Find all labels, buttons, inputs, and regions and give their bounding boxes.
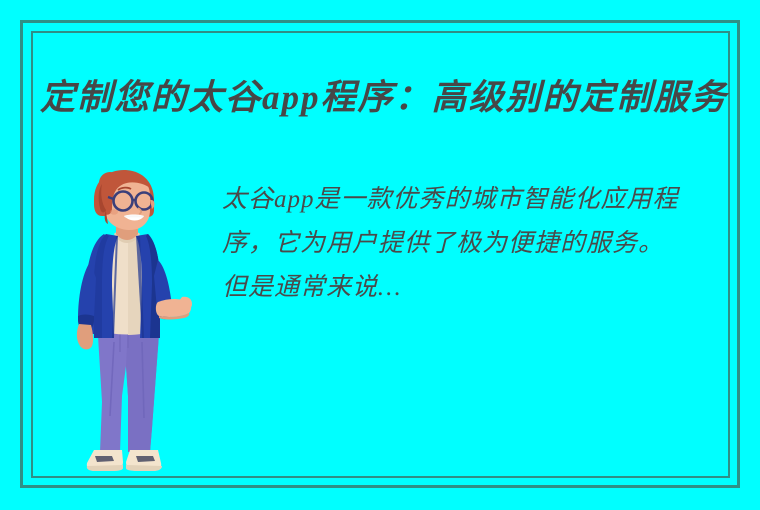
body-line-1: 太谷app是一款优秀的城市智能化应用程: [222, 178, 730, 222]
body-line-2: 序，它为用户提供了极为便捷的服务。: [222, 222, 730, 266]
body-text: 太谷app是一款优秀的城市智能化应用程 序，它为用户提供了极为便捷的服务。 但是…: [222, 178, 730, 310]
body-line-3: 但是通常来说…: [222, 266, 730, 310]
page-title: 定制您的太谷app程序：高级别的定制服务: [40, 75, 730, 121]
poster-canvas: 定制您的太谷app程序：高级别的定制服务 太谷app是一款优秀的城市智能化应用程…: [0, 0, 760, 510]
person-illustration: [62, 166, 192, 478]
